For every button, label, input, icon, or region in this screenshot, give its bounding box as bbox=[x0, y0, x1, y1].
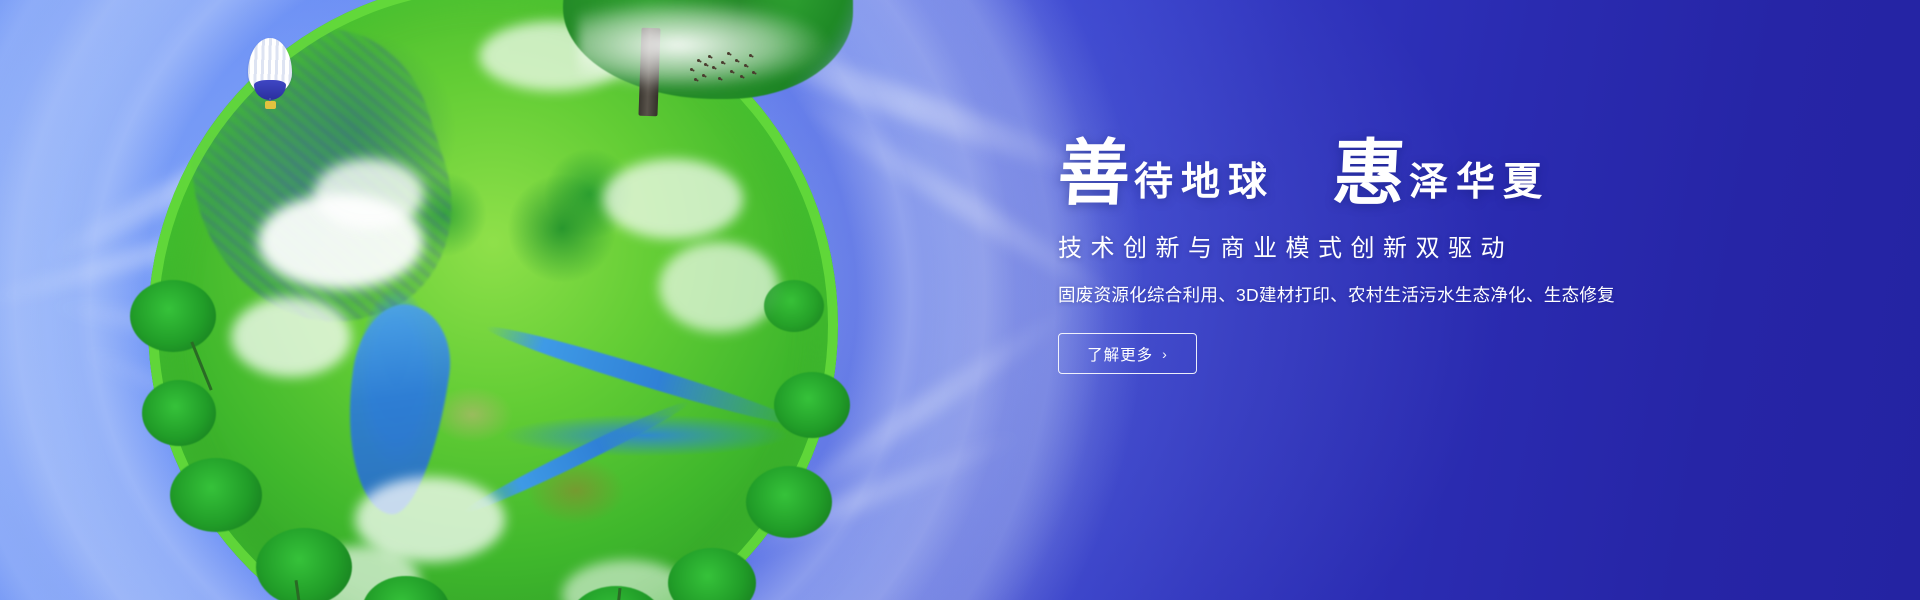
hot-air-balloon-icon bbox=[248, 38, 292, 116]
headline-lead-char-2: 惠 bbox=[1331, 140, 1406, 206]
balloon-basket bbox=[265, 101, 276, 109]
cloud-icon bbox=[74, 339, 447, 518]
cloud-icon bbox=[231, 297, 351, 377]
tree-trunk bbox=[295, 580, 305, 600]
cloud-icon bbox=[38, 53, 421, 273]
tree-icon bbox=[170, 458, 262, 532]
tree-icon bbox=[568, 586, 664, 600]
cloud-icon bbox=[659, 242, 779, 332]
mountain-region bbox=[158, 4, 484, 356]
cloud-icon bbox=[708, 19, 1113, 191]
cloud-icon bbox=[689, 423, 1030, 576]
hero-tagline: 固废资源化综合利用、3D建材打印、农村生活污水生态净化、生态修复 bbox=[1058, 282, 1678, 307]
cloud-icon bbox=[300, 546, 420, 600]
chevron-right-icon: › bbox=[1162, 346, 1168, 362]
cloud-icon bbox=[479, 21, 629, 91]
cloud-icon bbox=[562, 560, 692, 600]
headline-rest-2: 泽华夏 bbox=[1409, 163, 1550, 206]
cloud-icon bbox=[603, 159, 743, 239]
learn-more-button[interactable]: 了解更多 › bbox=[1058, 333, 1197, 374]
tree-trunk bbox=[638, 28, 660, 117]
balloon-skirt bbox=[254, 80, 286, 100]
birds-flock-icon bbox=[688, 50, 758, 84]
cloud-icon bbox=[314, 159, 424, 229]
hero-banner: 善 待地球 惠 泽华夏 技术创新与商业模式创新双驱动 固废资源化综合利用、3D建… bbox=[0, 0, 1920, 600]
cloud-icon bbox=[0, 164, 433, 316]
tree-trunk bbox=[190, 341, 212, 390]
cloud-icon bbox=[756, 296, 1083, 527]
tree-icon bbox=[362, 576, 450, 600]
cloud-icon bbox=[258, 194, 423, 289]
tree-icon bbox=[746, 466, 832, 538]
hero-content: 善 待地球 惠 泽华夏 技术创新与商业模式创新双驱动 固废资源化综合利用、3D建… bbox=[1058, 140, 1678, 374]
headline-phrase-1: 善 待地球 bbox=[1058, 140, 1275, 206]
headline-lead-char-1: 善 bbox=[1056, 140, 1131, 206]
tree-icon bbox=[764, 280, 824, 332]
river-icon bbox=[461, 395, 693, 519]
tree-icon bbox=[142, 380, 216, 446]
tree-icon bbox=[774, 372, 850, 438]
page-title: 善 待地球 惠 泽华夏 bbox=[1058, 140, 1678, 206]
headline-phrase-2: 惠 泽华夏 bbox=[1333, 140, 1550, 206]
headline-rest-1: 待地球 bbox=[1134, 163, 1275, 206]
lake-icon bbox=[334, 299, 458, 520]
river-icon bbox=[483, 319, 804, 435]
tree-icon bbox=[130, 280, 216, 352]
learn-more-label: 了解更多 bbox=[1087, 343, 1153, 365]
tree-icon bbox=[256, 528, 352, 600]
cloud-icon bbox=[41, 293, 468, 389]
tree-trunk bbox=[613, 588, 621, 600]
cloud-icon bbox=[355, 477, 505, 562]
tree-icon bbox=[668, 548, 756, 600]
hero-subtitle: 技术创新与商业模式创新双驱动 bbox=[1058, 228, 1678, 263]
